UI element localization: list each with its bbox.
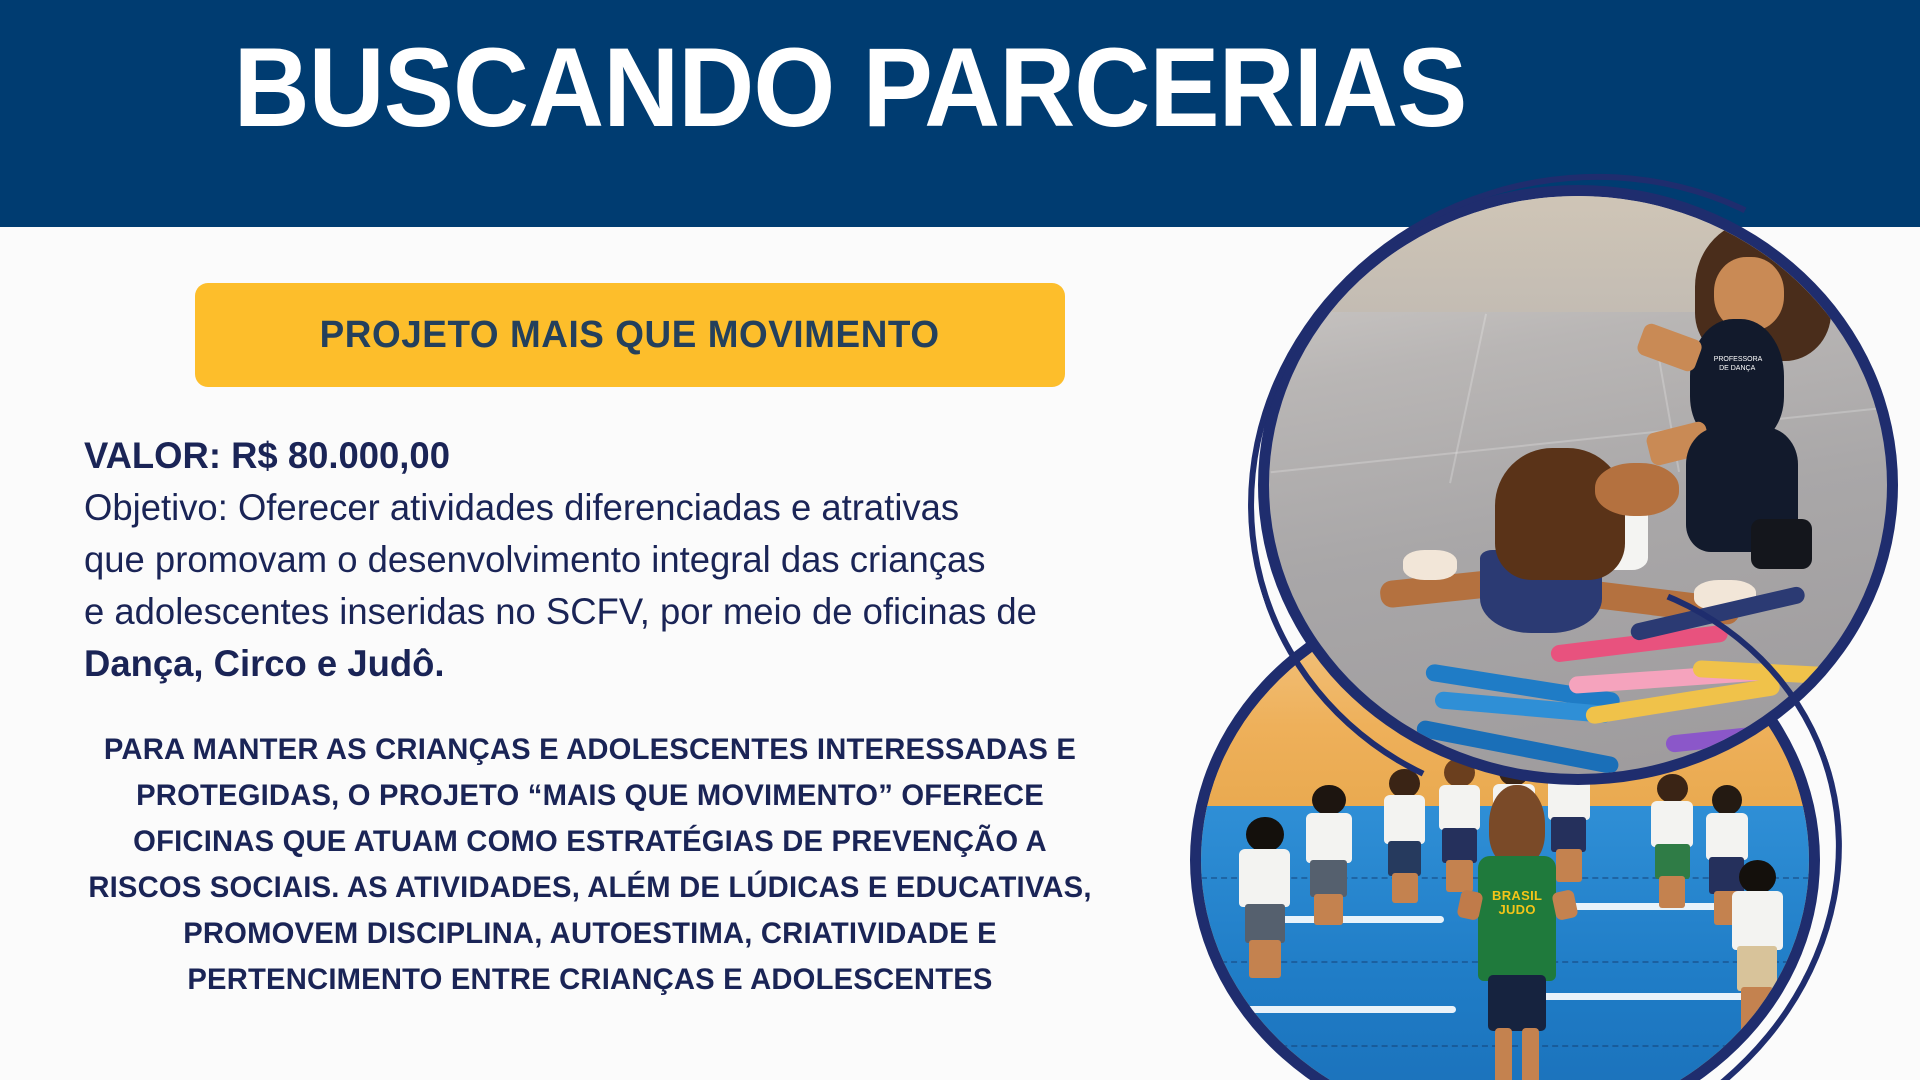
fabric-ribbons xyxy=(1417,601,1862,774)
poster-slide: BUSCANDO PARCERIAS PROJETO MAIS QUE MOVI… xyxy=(0,0,1920,1080)
judo-child xyxy=(1377,769,1432,904)
judo-shirt-line-2: JUDO xyxy=(1498,902,1535,917)
description-line-3: e adolescentes inseridas no SCFV, por me… xyxy=(84,586,1158,638)
cta-line-5: PROMOVEM DISCIPLINA, AUTOESTIMA, CRIATIV… xyxy=(65,911,1114,957)
project-description: VALOR: R$ 80.000,00 Objetivo: Oferecer a… xyxy=(84,430,1174,690)
description-line-2: que promovam o desenvolvimento integral … xyxy=(84,534,1158,586)
judo-child xyxy=(1645,774,1700,909)
illustration-cluster: BRASIL JUDO xyxy=(1150,180,1920,1080)
cta-line-1: PARA MANTER AS CRIANÇAS E ADOLESCENTES I… xyxy=(65,727,1114,773)
page-title: BUSCANDO PARCERIAS xyxy=(51,26,1649,149)
dance-shirt-line-1: PROFESSORA xyxy=(1714,356,1763,363)
description-line-workshops: Dança, Circo e Judô. xyxy=(84,638,1158,690)
judo-child xyxy=(1724,860,1791,1032)
cta-line-2: PROTEGIDAS, O PROJETO “MAIS QUE MOVIMENT… xyxy=(65,773,1114,819)
project-name-label: PROJETO MAIS QUE MOVIMENTO xyxy=(320,314,940,357)
judo-child xyxy=(1298,785,1359,925)
description-line-objective: Objetivo: Oferecer atividades diferencia… xyxy=(84,482,1158,534)
dance-shirt-line-2: DE DANÇA xyxy=(1719,365,1755,372)
judo-child xyxy=(1231,817,1298,978)
description-line-value: VALOR: R$ 80.000,00 xyxy=(84,430,1158,482)
judo-instructor: BRASIL JUDO xyxy=(1456,785,1578,1080)
cta-paragraph: PARA MANTER AS CRIANÇAS E ADOLESCENTES I… xyxy=(60,727,1120,1003)
cta-line-4: RISCOS SOCIAIS. AS ATIVIDADES, ALÉM DE L… xyxy=(65,865,1114,911)
cta-line-3: OFICINAS QUE ATUAM COMO ESTRATÉGIAS DE P… xyxy=(65,819,1114,865)
dance-class-illustration: PROFESSORA DE DANÇA xyxy=(1258,185,1898,785)
project-name-badge: PROJETO MAIS QUE MOVIMENTO xyxy=(195,283,1065,387)
judo-shirt-line-1: BRASIL xyxy=(1492,888,1542,903)
content-column: PROJETO MAIS QUE MOVIMENTO VALOR: R$ 80.… xyxy=(0,227,1160,1080)
cta-line-6: PERTENCIMENTO ENTRE CRIANÇAS E ADOLESCEN… xyxy=(65,957,1114,1003)
